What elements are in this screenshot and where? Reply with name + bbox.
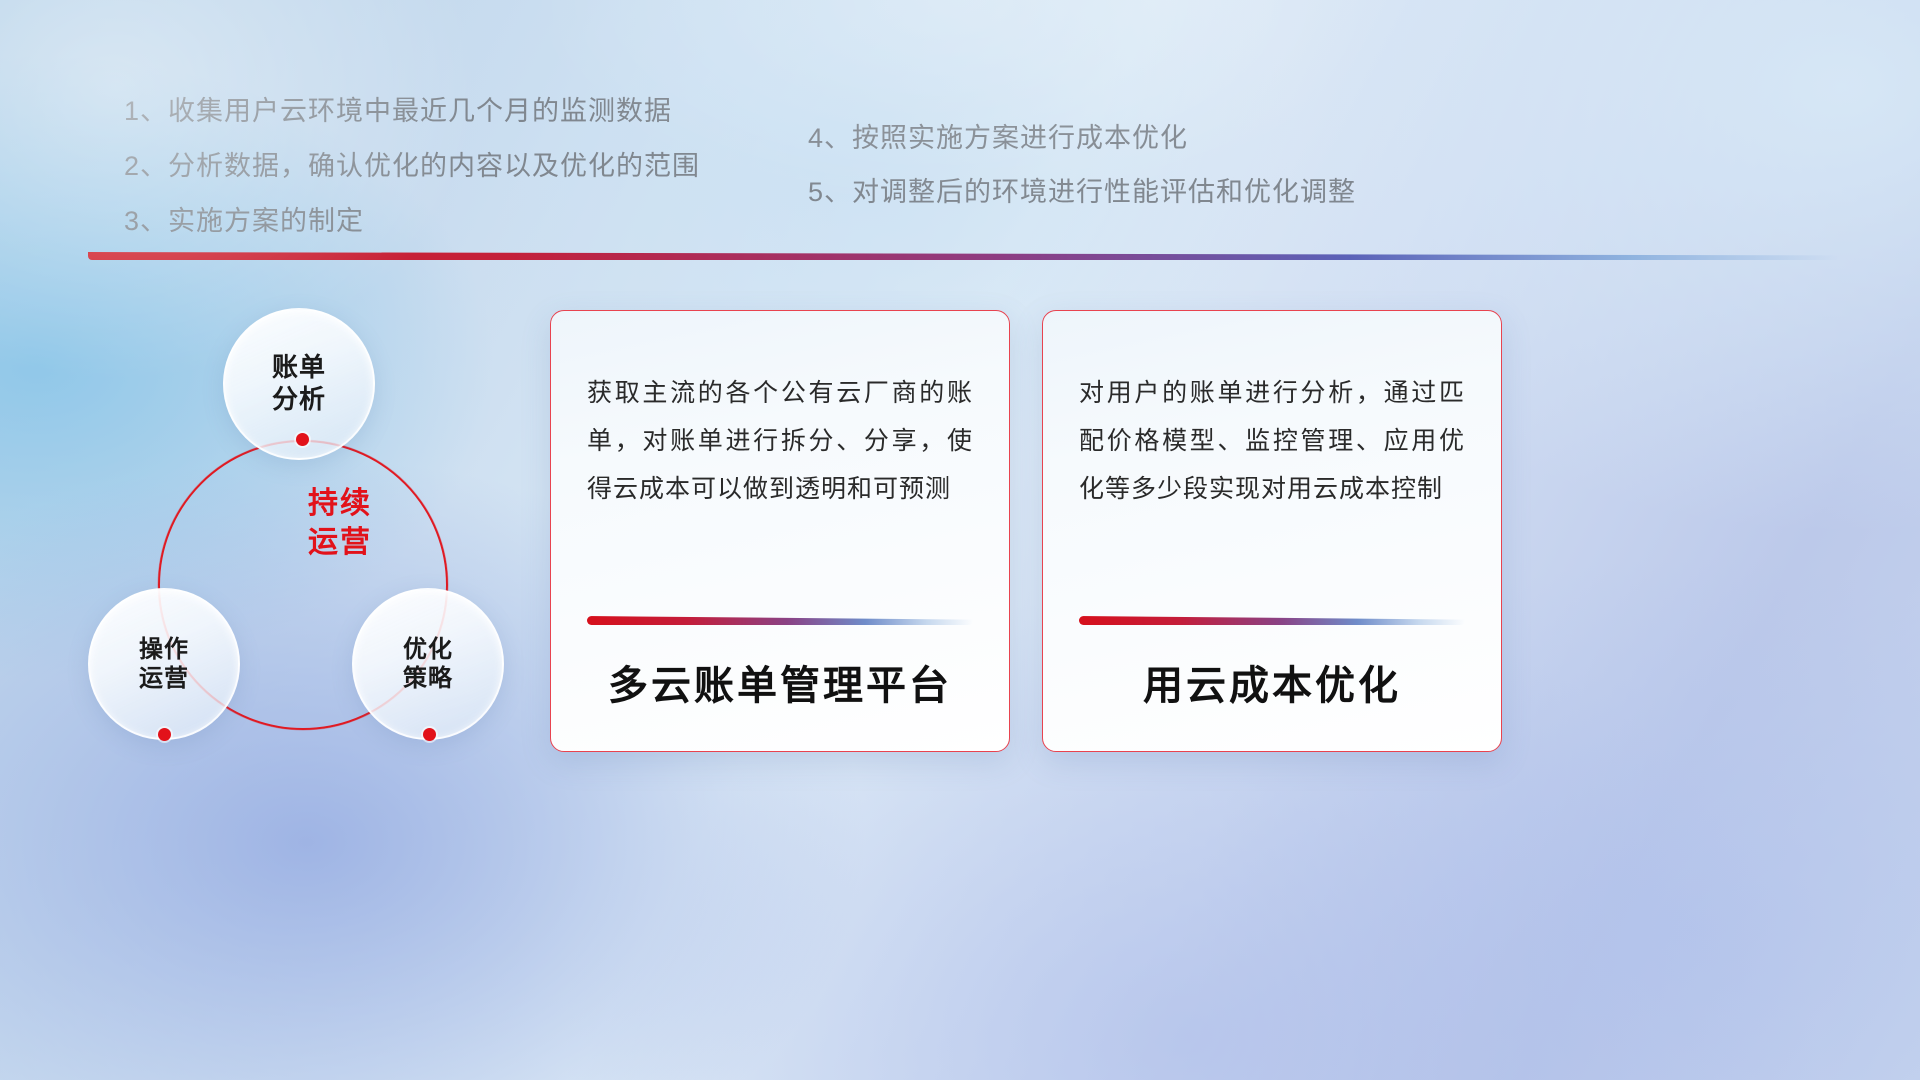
bullet-list-right: 4、按照实施方案进行成本优化 5、对调整后的环境进行性能评估和优化调整 [808, 125, 1356, 233]
feature-card-cloud-cost-optimization[interactable]: 对用户的账单进行分析，通过匹配价格模型、监控管理、应用优化等多少段实现对用云成本… [1042, 310, 1502, 752]
bullet-list-left: 1、收集用户云环境中最近几个月的监测数据 2、分析数据，确认优化的内容以及优化的… [124, 98, 700, 263]
diagram-center-label: 持续 运营 [250, 484, 430, 562]
slide-canvas: 1、收集用户云环境中最近几个月的监测数据 2、分析数据，确认优化的内容以及优化的… [0, 0, 1920, 1080]
node-label-line1: 优化 [403, 635, 453, 664]
bullet-item-2: 2、分析数据，确认优化的内容以及优化的范围 [124, 153, 700, 180]
center-label-line2: 运营 [250, 523, 430, 562]
card-divider [587, 616, 973, 625]
center-label-line1: 持续 [250, 484, 430, 523]
bullet-item-3: 3、实施方案的制定 [124, 208, 700, 235]
connector-dot-top-icon [296, 433, 309, 446]
card-body-text: 对用户的账单进行分析，通过匹配价格模型、监控管理、应用优化等多少段实现对用云成本… [1079, 369, 1465, 513]
bullet-item-4: 4、按照实施方案进行成本优化 [808, 125, 1356, 152]
node-label-line2: 策略 [403, 664, 453, 693]
diagram-node-optimization-strategy[interactable]: 优化 策略 [352, 588, 504, 740]
feature-card-multicloud-billing[interactable]: 获取主流的各个公有云厂商的账单，对账单进行拆分、分享，使得云成本可以做到透明和可… [550, 310, 1010, 752]
card-body-text: 获取主流的各个公有云厂商的账单，对账单进行拆分、分享，使得云成本可以做到透明和可… [587, 369, 973, 513]
card-title-text: 用云成本优化 [1079, 625, 1465, 751]
node-label-line1: 操作 [139, 635, 189, 664]
cycle-diagram: 持续 运营 账单 分析 操作 运营 优化 策略 [80, 288, 540, 768]
card-divider [1079, 616, 1465, 625]
bullet-item-1: 1、收集用户云环境中最近几个月的监测数据 [124, 98, 700, 125]
node-label-line2: 分析 [272, 384, 326, 416]
node-label-bill-analysis: 账单 分析 [272, 352, 326, 415]
section-divider [88, 252, 1840, 260]
node-label-operations: 操作 运营 [139, 635, 189, 694]
bullet-item-5: 5、对调整后的环境进行性能评估和优化调整 [808, 179, 1356, 206]
node-label-line2: 运营 [139, 664, 189, 693]
node-label-optimization-strategy: 优化 策略 [403, 635, 453, 694]
card-title-text: 多云账单管理平台 [587, 625, 973, 751]
node-label-line1: 账单 [272, 352, 326, 384]
diagram-node-operations[interactable]: 操作 运营 [88, 588, 240, 740]
connector-dot-right-icon [423, 728, 436, 741]
connector-dot-left-icon [158, 728, 171, 741]
